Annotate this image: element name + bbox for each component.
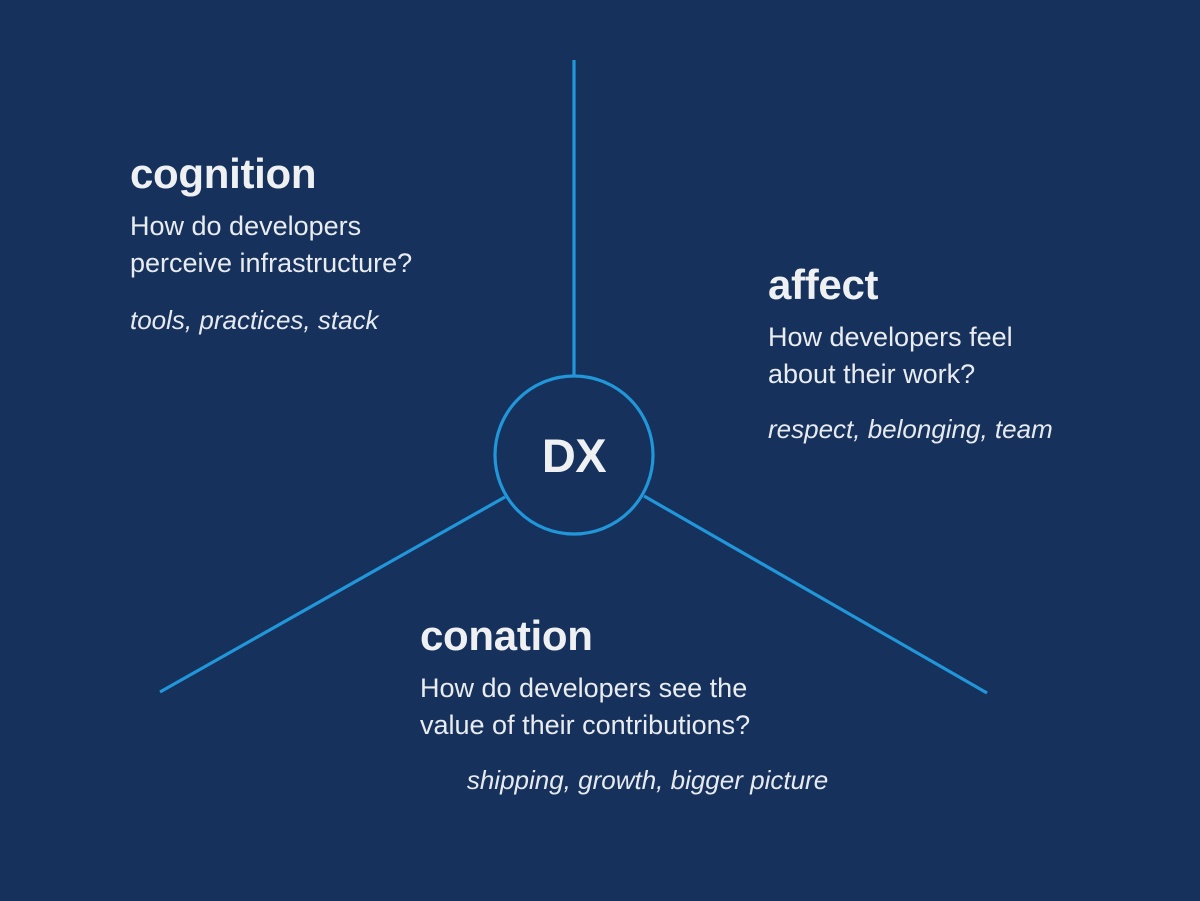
- node-conation-title: conation: [420, 614, 880, 658]
- dx-triad-diagram: DX cognition How do developers perceive …: [0, 0, 1200, 901]
- node-affect-title: affect: [768, 263, 1168, 307]
- node-conation-question: How do developers see the value of their…: [420, 670, 880, 743]
- node-conation-keywords: shipping, growth, bigger picture: [420, 764, 875, 798]
- node-cognition: cognition How do developers perceive inf…: [130, 152, 550, 337]
- dx-hub-label: DX: [494, 375, 654, 535]
- node-conation: conation How do developers see the value…: [420, 614, 880, 797]
- node-cognition-title: cognition: [130, 152, 550, 196]
- node-affect-keywords: respect, belonging, team: [768, 413, 1168, 447]
- node-affect-question: How developers feel about their work?: [768, 319, 1168, 392]
- node-cognition-keywords: tools, practices, stack: [130, 304, 550, 338]
- node-cognition-question: How do developers perceive infrastructur…: [130, 208, 550, 281]
- node-affect: affect How developers feel about their w…: [768, 263, 1168, 446]
